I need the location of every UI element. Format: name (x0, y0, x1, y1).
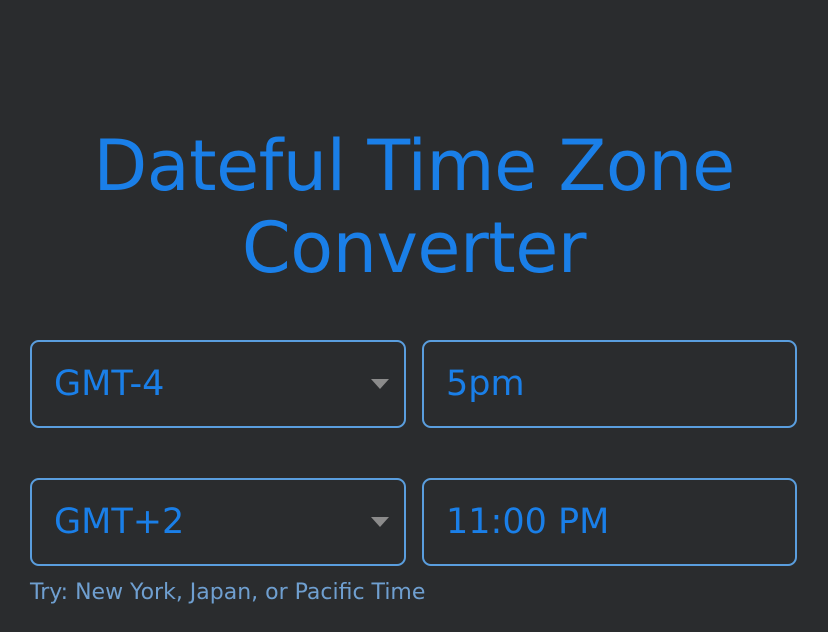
target-time-value: 11:00 PM (424, 502, 795, 542)
page-title: Dateful Time Zone Converter (0, 125, 828, 289)
target-timezone-value: GMT+2 (32, 502, 404, 542)
converter-row-source: GMT-4 5pm (30, 340, 797, 428)
target-timezone-select[interactable]: GMT+2 (30, 478, 406, 566)
source-time-value: 5pm (424, 364, 795, 404)
converter-row-target: GMT+2 11:00 PM (30, 478, 797, 566)
chevron-down-icon[interactable] (371, 517, 389, 527)
converter-page: Dateful Time Zone Converter GMT-4 5pm GM… (0, 0, 828, 632)
chevron-down-icon[interactable] (371, 379, 389, 389)
source-time-input[interactable]: 5pm (422, 340, 797, 428)
source-timezone-select[interactable]: GMT-4 (30, 340, 406, 428)
target-time-input[interactable]: 11:00 PM (422, 478, 797, 566)
converter-form: GMT-4 5pm GMT+2 11:00 PM (30, 340, 797, 566)
suggestion-hint: Try: New York, Japan, or Pacific Time (30, 580, 425, 606)
source-timezone-value: GMT-4 (32, 364, 404, 404)
